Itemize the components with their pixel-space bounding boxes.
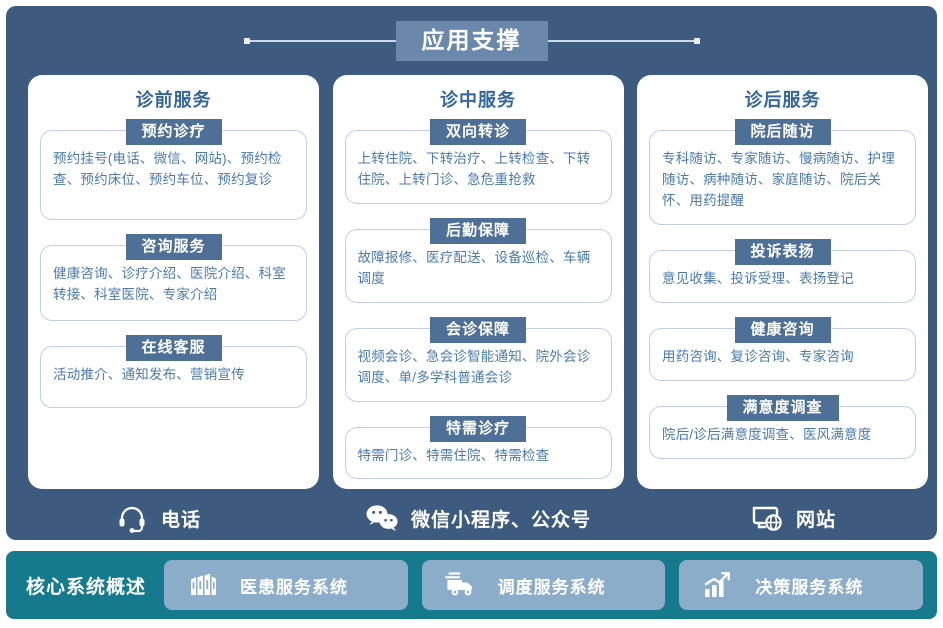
block-complaint-praise[interactable]: 投诉表扬 意见收集、投诉受理、表扬登记 xyxy=(649,239,916,303)
block-logistics[interactable]: 后勤保障 故障报修、医疗配送、设备巡检、车辆调度 xyxy=(345,218,612,303)
core-systems-cards: 医患服务系统 调度服务系统 xyxy=(164,560,923,610)
wechat-icon xyxy=(365,501,399,535)
header-connector-left xyxy=(246,40,396,42)
headset-icon xyxy=(115,501,149,535)
system-card-label: 决策服务系统 xyxy=(755,573,863,598)
system-card-dispatch-service[interactable]: 调度服务系统 xyxy=(422,560,666,610)
system-card-patient-service[interactable]: 医患服务系统 xyxy=(164,560,408,610)
board-title: 应用支撑 xyxy=(396,21,548,61)
application-support-board: 应用支撑 诊前服务 预约诊疗 预约挂号(电话、微信、网站)、预约检查、预约床位、… xyxy=(6,6,937,540)
core-systems-title: 核心系统概述 xyxy=(26,572,146,599)
block-joint-consultation[interactable]: 会诊保障 视频会诊、急会诊智能通知、院外会诊调度、单/多学科普通会诊 xyxy=(345,317,612,402)
system-card-decision-service[interactable]: 决策服务系统 xyxy=(679,560,923,610)
block-consultation-service[interactable]: 咨询服务 健康咨询、诊疗介绍、医院介绍、科室转接、科室医院、专家介绍 xyxy=(40,234,307,321)
column-during-visit: 诊中服务 双向转诊 上转住院、下转治疗、上转检查、下转住院、上转门诊、急危重抢救… xyxy=(333,75,624,489)
channel-label: 网站 xyxy=(796,505,836,532)
block-head: 会诊保障 xyxy=(430,317,526,343)
column-title: 诊前服务 xyxy=(40,91,307,109)
block-head: 在线客服 xyxy=(125,335,221,361)
block-head: 后勤保障 xyxy=(430,218,526,244)
hospital-building-icon xyxy=(186,568,220,602)
block-head: 满意度调查 xyxy=(726,395,838,421)
diagram-canvas: 应用支撑 诊前服务 预约诊疗 预约挂号(电话、微信、网站)、预约检查、预约床位、… xyxy=(0,0,943,628)
board-header: 应用支撑 xyxy=(6,18,937,64)
column-title: 诊中服务 xyxy=(345,91,612,109)
column-post-visit: 诊后服务 院后随访 专科随访、专家随访、慢病随访、护理随访、病种随访、家庭随访、… xyxy=(637,75,928,489)
delivery-truck-icon xyxy=(444,568,478,602)
block-appointment[interactable]: 预约诊疗 预约挂号(电话、微信、网站)、预约检查、预约床位、预约车位、预约复诊 xyxy=(40,119,307,220)
block-head: 健康咨询 xyxy=(734,317,830,343)
block-online-support[interactable]: 在线客服 活动推介、通知发布、营销宣传 xyxy=(40,335,307,408)
block-head: 咨询服务 xyxy=(125,234,221,260)
core-systems-bar: 核心系统概述 医患服务系统 xyxy=(6,551,937,619)
channel-wechat[interactable]: 微信小程序、公众号 xyxy=(328,501,628,535)
system-card-label: 医患服务系统 xyxy=(240,573,348,598)
system-card-label: 调度服务系统 xyxy=(498,573,606,598)
block-post-discharge-followup[interactable]: 院后随访 专科随访、专家随访、慢病随访、护理随访、病种随访、家庭随访、院后关怀、… xyxy=(649,119,916,225)
channel-website[interactable]: 网站 xyxy=(628,501,928,535)
block-head: 院后随访 xyxy=(734,119,830,145)
channel-phone[interactable]: 电话 xyxy=(28,501,328,535)
block-head: 双向转诊 xyxy=(430,119,526,145)
growth-chart-icon xyxy=(701,568,735,602)
block-head: 特需诊疗 xyxy=(430,416,526,442)
block-head: 投诉表扬 xyxy=(734,239,830,265)
header-connector-right xyxy=(548,40,698,42)
block-health-consultation[interactable]: 健康咨询 用药咨询、复诊咨询、专家咨询 xyxy=(649,317,916,381)
website-icon xyxy=(750,501,784,535)
channel-label: 微信小程序、公众号 xyxy=(411,505,591,532)
channel-label: 电话 xyxy=(161,505,201,532)
block-head: 预约诊疗 xyxy=(125,119,221,145)
block-two-way-referral[interactable]: 双向转诊 上转住院、下转治疗、上转检查、下转住院、上转门诊、急危重抢救 xyxy=(345,119,612,204)
column-title: 诊后服务 xyxy=(649,91,916,109)
channel-row: 电话 微信小程序、公众号 xyxy=(28,495,928,541)
column-pre-visit: 诊前服务 预约诊疗 预约挂号(电话、微信、网站)、预约检查、预约床位、预约车位、… xyxy=(28,75,319,489)
service-columns: 诊前服务 预约诊疗 预约挂号(电话、微信、网站)、预约检查、预约床位、预约车位、… xyxy=(28,75,928,489)
block-special-needs[interactable]: 特需诊疗 特需门诊、特需住院、特需检查 xyxy=(345,416,612,480)
block-satisfaction-survey[interactable]: 满意度调查 院后/诊后满意度调查、医风满意度 xyxy=(649,395,916,459)
